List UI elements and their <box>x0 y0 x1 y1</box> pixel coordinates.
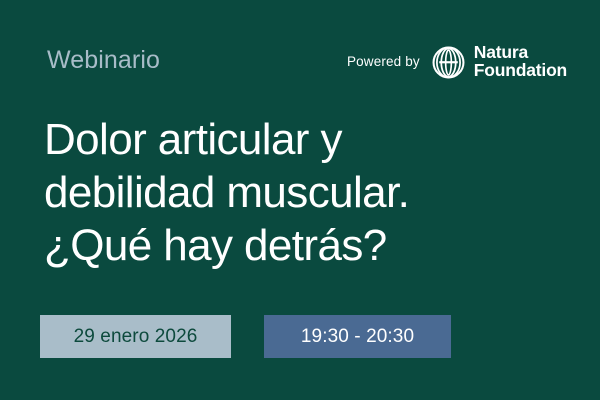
brand-name: Natura Foundation <box>474 44 567 80</box>
event-time-badge: 19:30 - 20:30 <box>264 315 451 358</box>
headline: Dolor articular y debilidad muscular. ¿Q… <box>44 113 564 272</box>
headline-line-3: ¿Qué hay detrás? <box>44 219 564 272</box>
webinar-kicker-label: Webinario <box>47 48 160 73</box>
headline-line-1: Dolor articular y <box>44 113 564 166</box>
brand-name-line2: Foundation <box>474 62 567 80</box>
headline-line-2: debilidad muscular. <box>44 166 564 219</box>
event-date-badge: 29 enero 2026 <box>40 315 231 358</box>
natura-seed-emblem-icon <box>432 46 465 79</box>
brand-lockup: Powered by Natura Foundation <box>347 42 567 82</box>
event-details: 29 enero 2026 19:30 - 20:30 <box>40 315 451 358</box>
webinar-promo-banner: Webinario Powered by Natura Foundation D… <box>0 0 600 400</box>
banner-header: Webinario Powered by Natura Foundation <box>0 0 600 100</box>
powered-by-label: Powered by <box>347 55 420 69</box>
